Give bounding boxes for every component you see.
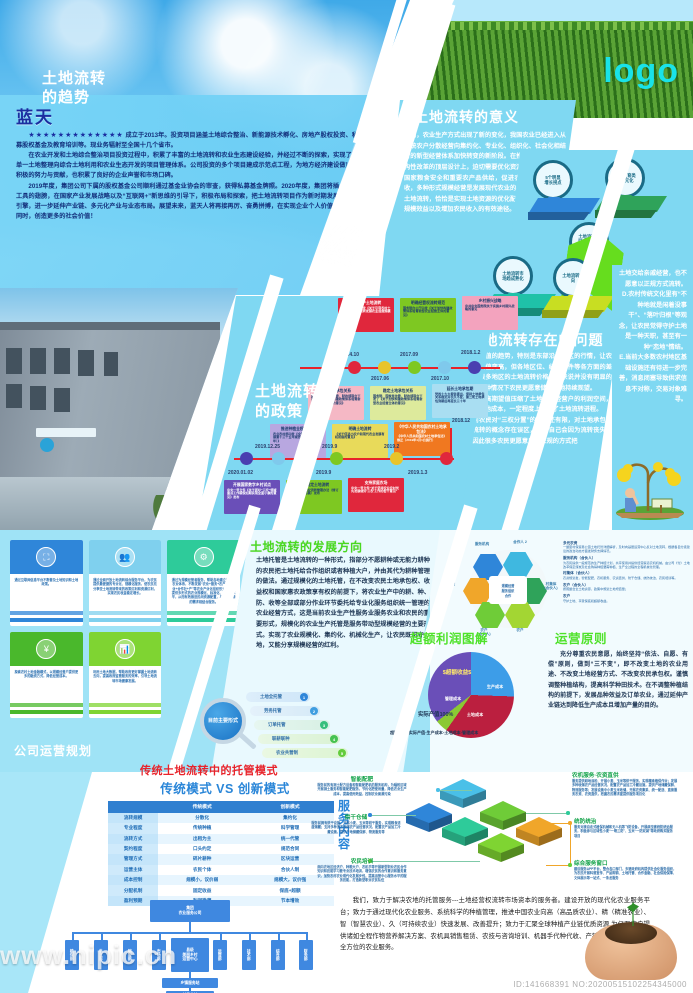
service-item-5: 统防统治 服务对接自走式植保机械和无人机等飞防设备，开展病虫害统防统治服务，积极…: [574, 817, 674, 838]
service-zone: 智能配肥 服务前的有测土配方设备和智能配肥机的服务机构，为辐射区域开展测土服务和…: [330, 775, 693, 895]
pie-slice-label-2: 土地成本: [464, 712, 486, 717]
trend-title: 土地流转 的趋势: [42, 70, 106, 108]
trust-body: 土地托管是土地流转的一种形式，指部分不愿耕种或无能力耕种的农民把土地托给合作组织…: [256, 556, 430, 652]
service-item-2-name: 烘干仓储: [310, 813, 402, 821]
trend-slab-1: [528, 198, 600, 224]
ops-body: 充分尊重农民意愿，始终坚持“依法、自愿、有偿”原则，做到“三不变”，即不改变土地…: [548, 650, 688, 711]
timeline-dot-1: [348, 361, 361, 374]
service-item-5-name: 统防统治: [574, 817, 674, 825]
stars-decor: ★★★★★★★★★★★★★: [28, 132, 123, 139]
watermark-site: www.nipic.cn: [0, 930, 320, 980]
policy-title: 土地流转 的政策: [255, 382, 319, 421]
plan-card-4-text: 探索农村土地金融模式，以规模经营户提供更多的融资方式，降低经营成本。: [10, 666, 83, 679]
timeline-dot-4: [438, 361, 451, 374]
plan-card-5[interactable]: 📊 利用土地大数据，帮助政府更好掌握土地流转去向，提高政府监管服务的效率，引导土…: [89, 632, 162, 718]
meaning-title: 土地流转的意义: [404, 110, 566, 125]
service-item-6-name: 综合服务窗口: [574, 859, 678, 867]
table-row: 专业程度传统种植科学管理: [108, 823, 334, 833]
pie-slice-label-3: 管理成本: [440, 696, 466, 701]
table-row: 成本控制规模小，议价弱规模大，议价强: [108, 875, 334, 885]
note-5-body: 守护土地、享受保底和超额收益。: [563, 599, 609, 603]
form-row-1[interactable]: 土地全托管1: [246, 692, 310, 702]
note-1-body: 一整套村保贸易公链土地托管详细解析，及时向基层运营中心反对土地流转，根据各自分级…: [563, 545, 690, 553]
policy-date-10: 2019.12.25: [255, 444, 280, 450]
top-band: logo 蓝天 ★★★★★★★★★★★★★ 成立于2013年。投资项目涵盖土地综…: [0, 0, 693, 535]
form-row-2[interactable]: 劳务托管2: [250, 706, 320, 716]
policy-card-8-body: 《关于促进小农户和现代农业发展有机衔接的意见》: [335, 432, 385, 440]
vs-th-2: 创新模式: [246, 801, 334, 813]
policy-date-7: 2019.1.3: [408, 470, 427, 476]
policy-card-7-body: 中央一号文件“关于坚持农业农村优先发展做好'三农'工作的若干意见”: [351, 486, 399, 494]
policy-card-3: 明确经营权流转规范 国务院办公厅印发《关于加快构建政策体系培育新型农业经营主体的…: [400, 298, 456, 332]
hex-side-notes: 多元农资 一整套村保贸易公链土地托管详细解析，及时向基层运营中心反对土地流转，根…: [563, 538, 691, 603]
logo-text: logo: [603, 52, 679, 91]
form-row-3[interactable]: 订单托管3: [254, 720, 330, 730]
watermark-id: ID:141668391 NO:20200515102254345000: [513, 980, 687, 989]
problem-body-right: 土地交给亲戚经营，也不愿意以正规方式流转。 D.农村传统文化里有“不种地就是闲着…: [616, 269, 687, 406]
gears-icon: ⚙: [194, 547, 214, 567]
policy-card-3-body: 国务院办公厅印发《关于加快构建政策体系培育新型农业经营主体的意见》: [403, 306, 453, 317]
service-item-5-desc: 服务对接自走式植保机械和无人机等飞防设备，开展病虫害统防统治服务，积极参与区域性…: [574, 825, 674, 838]
plan-card-5-text: 利用土地大数据，帮助政府更好掌握土地流转去向，提高政府监管服务的效率，引导土地流…: [89, 666, 162, 683]
company-plan-label: 公司运营规划: [14, 742, 92, 759]
service-item-6: 综合服务窗口 建设服务APP平台，整合各口部门，多链政府机构提供社会化服务组织，…: [574, 859, 678, 880]
timeline-dot-10: [272, 452, 285, 465]
policy-card-2b: 稳定土地承包关系 国务院、国家发改委、财政部联合下发了《关于加快构建政策体系培育…: [370, 386, 426, 420]
hex-label-2: 服务机构: [469, 542, 495, 546]
policy-card-5-body: 中共中央国务院关于实施乡村振兴战略的意见: [465, 304, 515, 312]
table-row: 契约程度口头约定规范合同: [108, 844, 334, 854]
hex-label-6: 农户: [507, 628, 533, 632]
company-body: ★★★★★★★★★★★★★ 成立于2013年。投资项目涵盖土地综合整治、新能源技…: [16, 130, 358, 222]
plan-card-1[interactable]: ⛶ 通过互联网信息平台不断普及土地知识和土地政策。: [10, 540, 83, 626]
policy-card-6-title: 《中华人民共和国农村土地承包法》: [397, 425, 447, 434]
note-3-body: 农资规划发，智能配肥、农机服务、农资直供、防干仓储、统防统治、农民培训等。: [563, 576, 677, 580]
trust-forms-widget: 目前主要形式 土地全托管1 劳务托管2 订单托管3 联耕联种4 农业共营制5: [200, 690, 345, 770]
policy-date-5: 2018.1.2: [461, 350, 480, 356]
service-item-6-desc: 建设服务APP平台，整合各口部门，多链政府机构提供社会化服务组织，为农民开展科普…: [574, 867, 678, 880]
policy-date-9: 2019.9: [322, 444, 337, 450]
forms-label: 目前主要形式: [200, 698, 246, 744]
form-row-5[interactable]: 农业共营制5: [262, 748, 348, 758]
building-icon: ⛶: [36, 547, 56, 567]
service-item-3-name: 农民培训: [316, 857, 408, 865]
farmer-cartoon-illustration: [604, 455, 690, 521]
pie-slice-label-1: 生产成本: [484, 684, 506, 689]
note-2-body: 为农民提供一般规范的生产种植计划，共享使用并提供经营渠道农机机械。由公司《付）土…: [563, 561, 690, 569]
hex-wheel-diagram: 规模经营 服务组织 合作 多元农资 服务机构 合作人 2 村集体 (合伙人) 农…: [455, 540, 560, 640]
timeline-dot-7: [440, 452, 453, 465]
trend-pin-4-label: 土地流转市 场趋成熟化: [493, 256, 533, 296]
policy-card-4-body: 党的十九大报告提出，保持土地承包关系稳定并长久不变，第二轮土地承包到期后再延长三…: [435, 392, 485, 403]
profit-pie-chart: 生产成本 土地成本 管理成本 $超额收益$: [428, 652, 514, 738]
policy-date-2: 2017.06: [371, 376, 389, 382]
table-row: 运营主体农民个体合伙人制: [108, 865, 334, 875]
profit-title: 超额利润图解: [410, 628, 488, 647]
hex-label-3: 合作人 2: [505, 540, 535, 544]
vs-th-0: [108, 801, 158, 813]
plan-card-4[interactable]: ¥ 探索农村土地金融模式，以规模经营户提供更多的融资方式，降低经营成本。: [10, 632, 83, 718]
service-item-1-name: 智能配肥: [316, 775, 408, 783]
form-row-4[interactable]: 联耕联种4: [258, 734, 340, 744]
hands-holding-sprout-photo: [575, 900, 685, 988]
policy-card-6: 《中华人民共和国农村土地承包法》 《中华人民共和国农村土地承包法》修正（2019…: [394, 422, 450, 456]
service-item-3-desc: 面向农地区经济户、种粮大户、农机手等开展新型职业农民合作知识和技能学习要专业技术…: [316, 865, 408, 882]
plan-card-2-text: 通过全面开放土地流转综合服务平台，为农民提供最便捷的专业化、规模化服务，使农民充…: [89, 574, 162, 595]
org-top-node: 集团 农业服务公司: [150, 900, 230, 922]
table-row: 管理方式碎片耕种区块运营: [108, 854, 334, 864]
vs-th-1: 传统模式: [158, 801, 246, 813]
table-row: 流转规模分散化集约化: [108, 813, 334, 823]
plan-card-2[interactable]: 👥 通过全面开放土地流转综合服务平台，为农民提供最便捷的专业化、规模化服务，使农…: [89, 540, 162, 626]
company-para-3: 2019年度，集团公司下属的股权基金公司顺利通过基金业协会的审查，获得私募基金牌…: [16, 182, 358, 222]
hex-center-label: 规模经营 服务组织 合作: [489, 576, 527, 604]
policy-date-9b: 2019.9: [316, 470, 331, 476]
policy-card-7: 支持家庭农场 中央一号文件“关于坚持农业农村优先发展做好'三农'工作的若干意见”: [348, 478, 404, 512]
policy-date-11: 2020.01.02: [228, 470, 253, 476]
timeline-dot-8: [390, 452, 403, 465]
service-item-4: 农机服务·农资直供 服务提供耕地深松、开展小麦、玉米等烘干服务，实现精准植保作业…: [572, 771, 680, 796]
service-item-3: 农民培训 面向农地区经济户、种粮大户、农机手等开展新型职业农民合作知识和技能学习…: [316, 857, 408, 882]
timeline-dot-9: [330, 452, 343, 465]
policy-card-5: 乡村振兴战略 中共中央国务院关于实施乡村振兴战略的意见: [462, 296, 518, 330]
timeline-line-bottom: [234, 458, 454, 460]
vs-title: 传统模式 VS 创新模式: [100, 778, 350, 797]
timeline-dot-11: [240, 452, 253, 465]
data-icon: 📊: [115, 639, 135, 659]
finance-icon: ¥: [36, 639, 56, 659]
policy-card-11-body: 中央一号文件《关于抓好“三农”领域重点工作确保如期实现全面小康的意见》发布: [227, 488, 277, 499]
table-row: 流转方式出租为主统一代管: [108, 834, 334, 844]
service-item-4-desc: 服务提供耕地深松、开展小麦、玉米等烘干服务，实现精准植保作业；发展多种收储农产品…: [572, 779, 680, 796]
hex-label-4: 村集体 (合伙人): [537, 582, 565, 591]
vs-table: 传统模式 创新模式 流转规模分散化集约化 专业程度传统种植科学管理 流转方式出租…: [108, 801, 334, 906]
policy-date-3: 2017.09: [400, 352, 418, 358]
policy-card-6-body: 《中华人民共和国农村土地承包法》修正（2019年1月1日施行）: [397, 434, 447, 442]
note-4-body: 按照整合全土地资源，政策中规划土地增值量；: [563, 587, 628, 591]
policy-date-6: 2018.12: [452, 418, 470, 424]
trend-pin-1-label: 5个明显 增长拐点: [533, 160, 573, 200]
trust-label: 传统土地流转中的托管模式: [140, 762, 278, 778]
ops-title: 运营原则: [555, 628, 607, 647]
service-item-1: 智能配肥 服务前的有测土配方设备和智能配肥机的服务机构，为辐射区域开展测土服务和…: [316, 775, 408, 796]
pie-slice-label-4: $超额收益$: [440, 670, 474, 677]
plan-card-1-text: 通过互联网信息平台不断普及土地知识和土地政策。: [10, 574, 83, 587]
trust-title: 土地流转的发展方向: [250, 538, 363, 555]
service-item-2-desc: 服务前拥有烘干设施，开展小麦、玉米等烘干服务，实现粮食适度储藏；支持多种通农收储…: [310, 821, 402, 834]
service-item-4-name: 农机服务·农资直供: [572, 771, 680, 779]
company-para-2: 在农业开发和土地综合整治项目投资过程中，积累了丰富的土地流转和农业生态建设经验，…: [16, 151, 358, 181]
policy-date-8: 2019.2: [384, 444, 399, 450]
service-item-2: 烘干仓储 服务前拥有烘干设施，开展小麦、玉米等烘干服务，实现粮食适度储藏；支持多…: [310, 813, 402, 834]
policy-card-4: 延长土地承包期 党的十九大报告提出，保持土地承包关系稳定并长久不变，第二轮土地承…: [432, 384, 488, 418]
timeline-dot-5: [468, 361, 481, 374]
table-row: 分配机制固定收益保底+超额: [108, 885, 334, 895]
timeline-dot-3: [408, 361, 421, 374]
people-icon: 👥: [115, 547, 135, 567]
poster-canvas: logo 蓝天 ★★★★★★★★★★★★★ 成立于2013年。投资项目涵盖土地综…: [0, 0, 693, 993]
profit-caption: 实际产值100%: [418, 710, 453, 718]
policy-date-4: 2017.10: [431, 376, 449, 382]
service-item-1-desc: 服务前的有测土配方设备和智能配肥机的服务机构，为辐射区域开展测土服务和智能配肥服…: [316, 783, 408, 796]
timeline-dot-2: [378, 361, 391, 374]
